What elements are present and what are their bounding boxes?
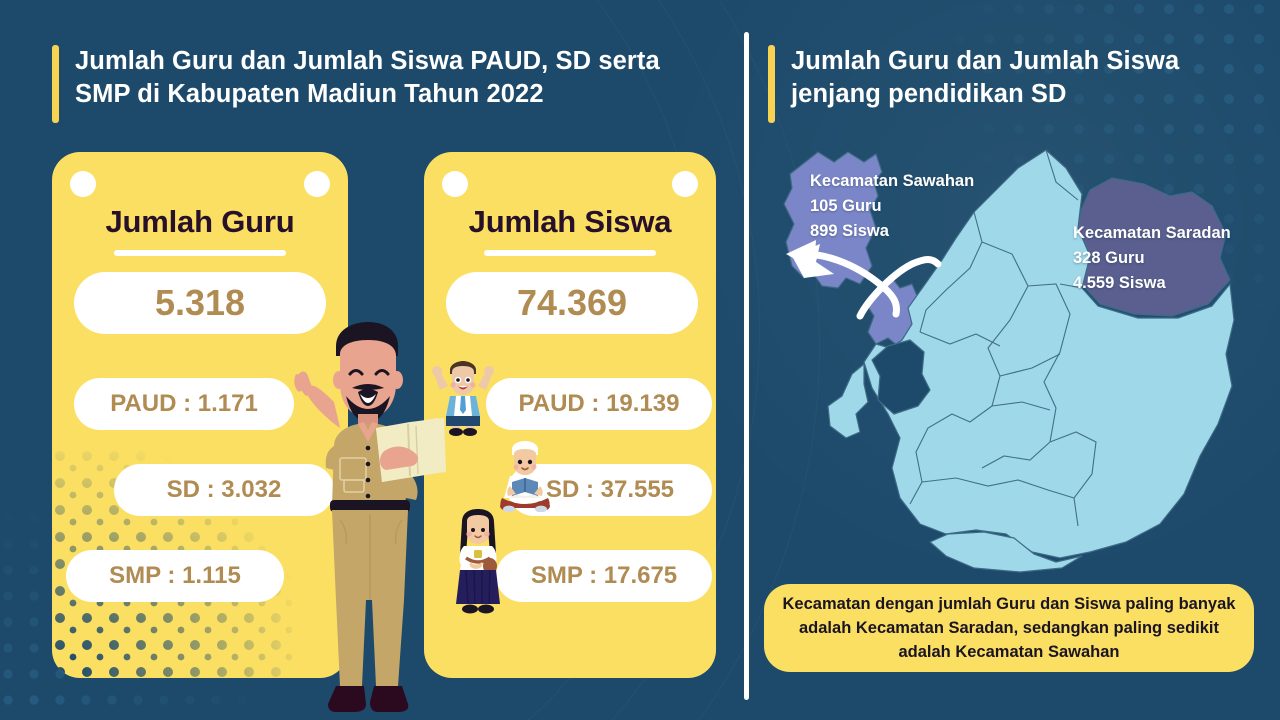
card-punch-hole-right [304,171,330,197]
guru-smp-value: SMP : 1.115 [66,550,284,602]
card-punch-hole-left [442,171,468,197]
map-label-sawahan-teachers: 105 Guru [810,194,974,219]
student-sd-illustration [490,440,560,512]
siswa-total-value: 74.369 [446,272,698,334]
map-label-saradan-name: Kecamatan Saradan [1073,221,1231,246]
siswa-paud-value: PAUD : 19.139 [486,378,712,430]
map-region-west-peninsula [828,364,868,438]
card-punch-hole-right [672,171,698,197]
card-heading-underline [114,250,286,256]
right-panel-title: Jumlah Guru dan Jumlah Siswa jenjang pen… [768,45,1238,123]
map-label-saradan: Kecamatan Saradan 328 Guru 4.559 Siswa [1073,221,1231,296]
title-accent-bar [768,45,775,123]
map-label-sawahan: Kecamatan Sawahan 105 Guru 899 Siswa [810,169,974,244]
left-panel-title-text: Jumlah Guru dan Jumlah Siswa PAUD, SD se… [75,45,712,111]
map-label-sawahan-name: Kecamatan Sawahan [810,169,974,194]
siswa-smp-value: SMP : 17.675 [496,550,712,602]
teacher-illustration [278,300,460,720]
map-caption: Kecamatan dengan jumlah Guru dan Siswa p… [764,584,1254,672]
card-punch-hole-left [70,171,96,197]
card-heading-underline [484,250,656,256]
map-label-saradan-students: 4.559 Siswa [1073,271,1231,296]
left-panel-title: Jumlah Guru dan Jumlah Siswa PAUD, SD se… [52,45,712,123]
map-label-saradan-teachers: 328 Guru [1073,246,1231,271]
title-accent-bar [52,45,59,123]
guru-paud-value: PAUD : 1.171 [74,378,294,430]
card-heading-guru: Jumlah Guru [52,204,348,240]
vertical-divider [744,32,749,700]
card-heading-siswa: Jumlah Siswa [424,204,716,240]
map-label-sawahan-students: 899 Siswa [810,219,974,244]
right-panel-title-text: Jumlah Guru dan Jumlah Siswa jenjang pen… [791,45,1238,111]
